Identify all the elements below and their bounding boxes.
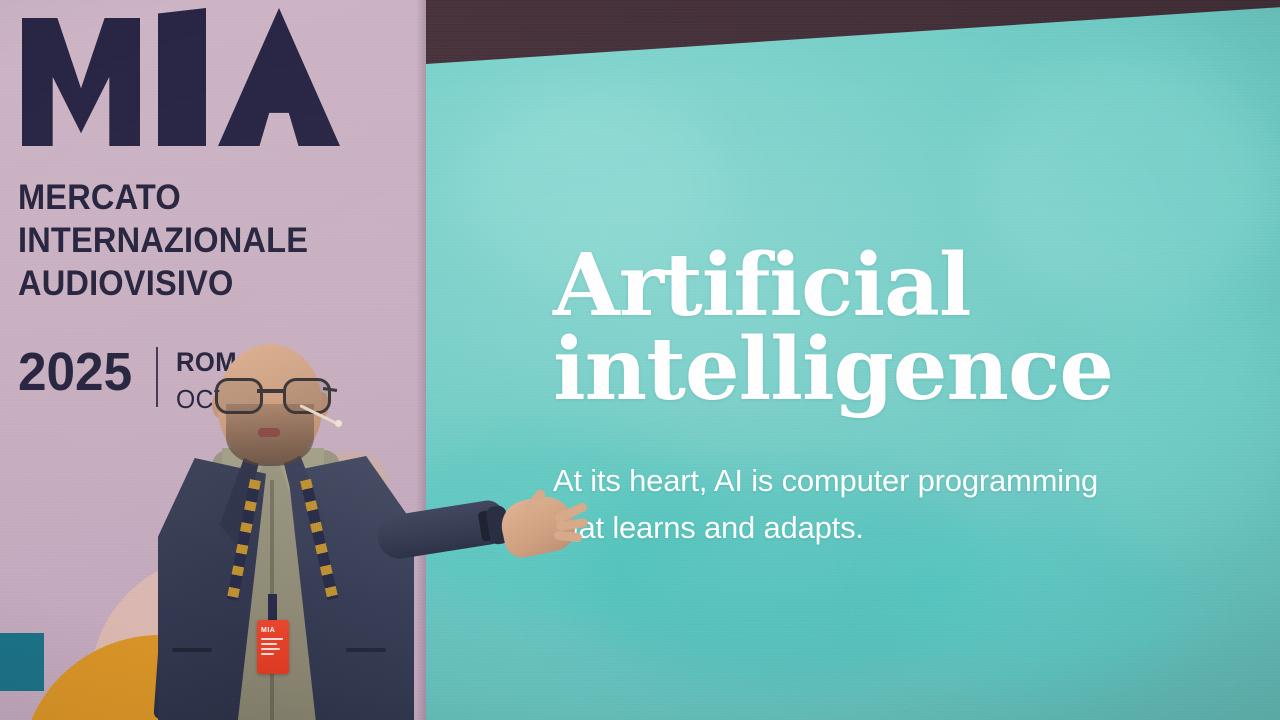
speaker-mouth <box>258 428 280 437</box>
speaker-glasses-icon <box>213 378 328 408</box>
mia-logo <box>22 8 334 148</box>
speaker-jacket-pocket <box>346 648 386 652</box>
logo-letter-m-icon <box>22 18 140 146</box>
banner-tagline: MERCATO INTERNAZIONALE AUDIOVISIVO <box>18 176 398 305</box>
stage-photo: Artificial intelligence At its heart, AI… <box>0 0 1280 720</box>
logo-letter-a-icon <box>218 8 340 146</box>
speaker-person: MIA <box>150 330 570 720</box>
banner-teal-square <box>0 633 44 691</box>
slide-subtitle-line-1: At its heart, AI is computer programming <box>553 457 1163 504</box>
badge-logo-text: MIA <box>261 627 275 634</box>
conference-badge: MIA <box>257 620 289 674</box>
banner-tagline-line-3: AUDIOVISIVO <box>18 262 371 305</box>
banner-tagline-line-1: MERCATO <box>18 176 371 219</box>
glasses-bridge <box>257 389 283 393</box>
slide-title: Artificial intelligence <box>553 244 1273 413</box>
glasses-lens-left <box>215 378 263 414</box>
slide-subtitle-line-2: that learns and adapts. <box>553 504 1163 551</box>
speaker-jacket-pocket <box>172 648 212 652</box>
headset-mic-tip <box>335 420 342 427</box>
banner-year: 2025 <box>18 345 132 399</box>
logo-letter-i-icon <box>158 8 206 146</box>
slide-title-line-2: intelligence <box>553 328 1273 412</box>
badge-text-lines <box>261 638 283 658</box>
slide-subtitle: At its heart, AI is computer programming… <box>553 457 1163 551</box>
slide-title-line-1: Artificial <box>553 244 1273 328</box>
slide-text-block: Artificial intelligence At its heart, AI… <box>553 244 1273 551</box>
banner-tagline-line-2: INTERNAZIONALE <box>18 219 371 262</box>
